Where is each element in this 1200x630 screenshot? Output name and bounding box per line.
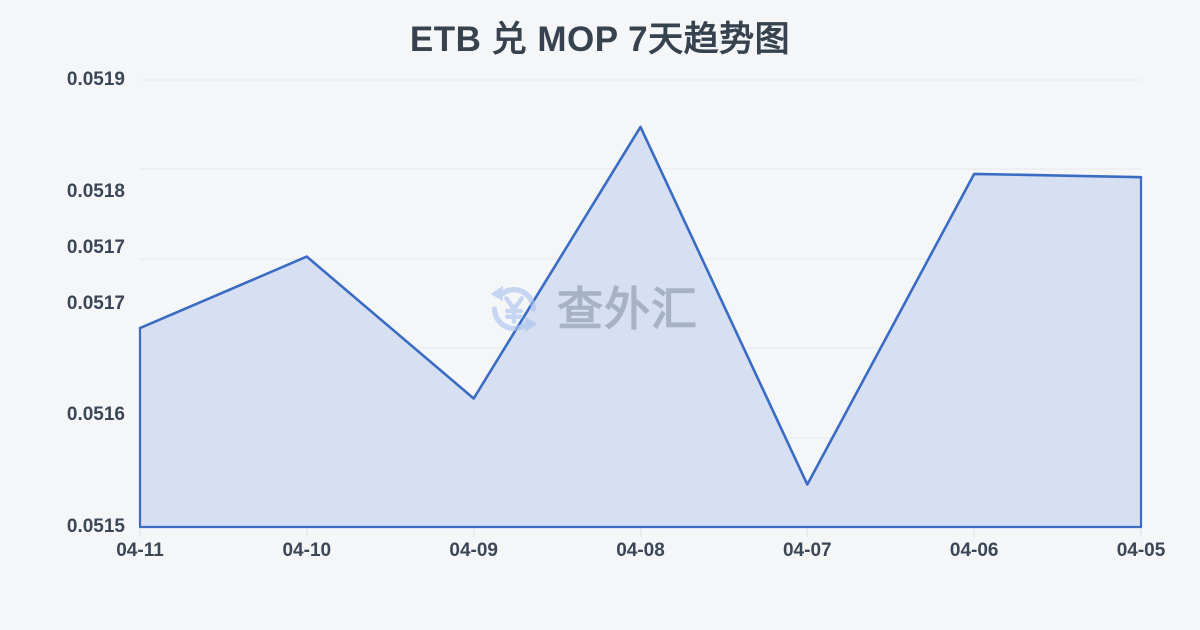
y-tick-label: 0.0517: [15, 237, 125, 259]
chart-container: ETB 兑 MOP 7天趋势图 0.0519 0.0518 0.0517: [0, 0, 1200, 630]
y-tick-label: 0.0515: [15, 516, 125, 538]
x-tick-label: 04-08: [616, 540, 665, 562]
x-axis-ticks: [140, 527, 1141, 537]
x-tick-label: 04-11: [116, 540, 164, 562]
area-fill: [140, 127, 1141, 527]
x-tick-label: 04-10: [282, 540, 331, 562]
chart-plot-area: [0, 0, 1200, 630]
x-tick-label: 04-09: [449, 540, 498, 562]
y-tick-label: 0.0516: [15, 404, 125, 426]
y-axis: 0.0519 0.0518 0.0517 0.0517 0.0516 0.051…: [10, 0, 125, 630]
x-tick-label: 04-07: [783, 540, 832, 562]
y-tick-label: 0.0517: [15, 293, 125, 315]
y-tick-label: 0.0518: [15, 181, 125, 203]
y-tick-label: 0.0519: [15, 69, 125, 91]
x-tick-label: 04-05: [1117, 540, 1166, 562]
x-tick-label: 04-06: [950, 540, 999, 562]
